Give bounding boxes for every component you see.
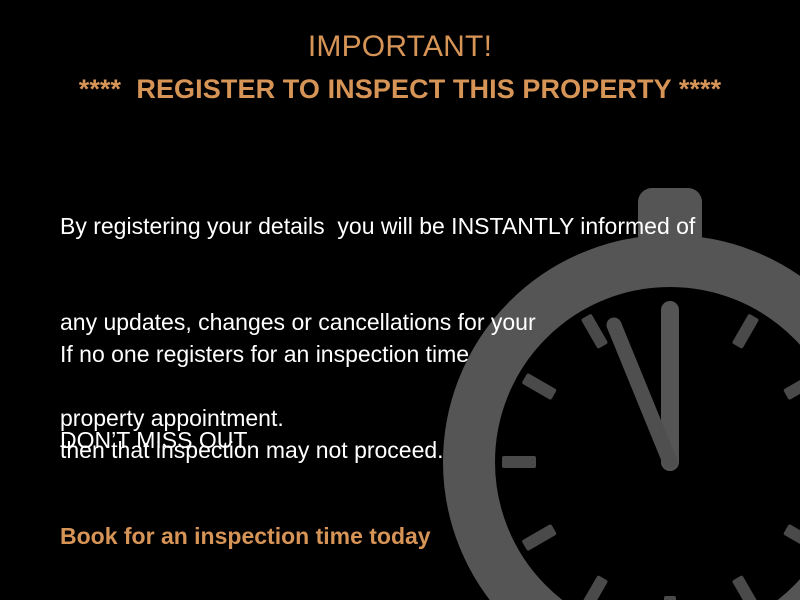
paragraph-line: By registering your details you will be … bbox=[60, 210, 695, 242]
page-title-important: IMPORTANT! bbox=[0, 30, 800, 63]
cta-book-inspection: Book for an inspection time today bbox=[60, 520, 431, 552]
cta-dont-miss-out: DON’T MISS OUT bbox=[60, 424, 431, 456]
page-subtitle-register: **** REGISTER TO INSPECT THIS PROPERTY *… bbox=[0, 74, 800, 105]
slide-text-layer: IMPORTANT! **** REGISTER TO INSPECT THIS… bbox=[0, 0, 800, 600]
promotional-slide: IMPORTANT! **** REGISTER TO INSPECT THIS… bbox=[0, 0, 800, 600]
call-to-action-block: DON’T MISS OUT Book for an inspection ti… bbox=[60, 360, 431, 600]
